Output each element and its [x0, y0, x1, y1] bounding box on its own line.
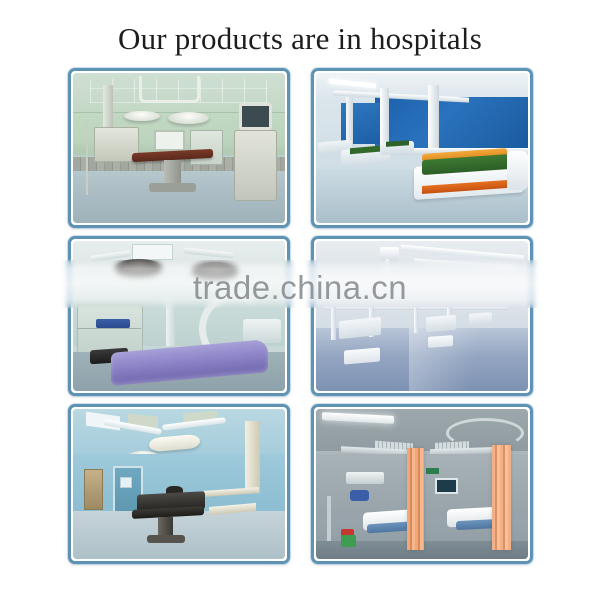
- wall-panel: [154, 130, 186, 151]
- wall-cabinet: [77, 304, 143, 354]
- wooden-cabinet: [84, 469, 103, 510]
- photo-top-right: [316, 73, 528, 223]
- surgical-light-dome-left: [115, 259, 162, 277]
- equipment-column: [245, 421, 260, 493]
- equipment-cart: [234, 130, 276, 201]
- door: [190, 130, 224, 165]
- operating-table-base: [149, 183, 196, 192]
- bed-foreground-headboard: [507, 151, 528, 190]
- photo-frame-middle-right[interactable]: [311, 236, 533, 396]
- equipment-stand: [166, 301, 174, 346]
- bedhead-panel-left: [346, 472, 384, 484]
- photo-frame-bottom-right[interactable]: [311, 404, 533, 564]
- photo-frame-top-left[interactable]: [68, 68, 290, 228]
- surgical-light-dome-right: [192, 262, 239, 280]
- surgical-light-left: [124, 111, 160, 122]
- green-bin: [341, 535, 356, 547]
- equipment-bridge-3: [469, 312, 492, 326]
- c-arm-body: [243, 319, 281, 343]
- iv-stand: [86, 123, 88, 195]
- blue-tray: [96, 319, 130, 328]
- surgical-light-right: [168, 112, 208, 124]
- green-wall-sign: [426, 468, 439, 474]
- privacy-curtain-left: [407, 448, 424, 550]
- operating-table-column: [164, 160, 181, 184]
- photo-top-left: [73, 73, 285, 223]
- door-window: [120, 477, 133, 488]
- photo-grid: [68, 68, 533, 564]
- surgical-light-arm: [139, 76, 200, 103]
- patient-monitor: [435, 478, 458, 494]
- photo-frame-top-right[interactable]: [311, 68, 533, 228]
- blue-cloth: [350, 490, 369, 501]
- equipment-base-2: [428, 335, 453, 347]
- bed-head-post-3: [414, 307, 418, 333]
- iv-pole: [327, 496, 331, 547]
- operating-table-base: [147, 535, 185, 543]
- cabinet-seam: [77, 328, 141, 329]
- ceiling-panel: [132, 244, 172, 260]
- promo-image-canvas: Our products are in hospitals: [0, 0, 600, 600]
- photo-frame-bottom-left[interactable]: [68, 404, 290, 564]
- page-title: Our products are in hospitals: [0, 21, 600, 57]
- photo-bottom-left: [73, 409, 285, 559]
- photo-middle-left: [73, 241, 285, 391]
- ceiling: [73, 241, 285, 286]
- equipment-bridge-2: [426, 315, 456, 333]
- photo-frame-middle-left[interactable]: [68, 236, 290, 396]
- wall-monitor: [239, 103, 273, 130]
- privacy-curtain-right: [492, 445, 511, 550]
- pendant-column-near: [428, 85, 439, 157]
- bed-third-mattress: [386, 140, 409, 147]
- ceiling-pendant: [103, 85, 114, 133]
- bed-head-post-1: [331, 307, 336, 340]
- photo-bottom-right: [316, 409, 528, 559]
- photo-middle-right: [316, 241, 528, 391]
